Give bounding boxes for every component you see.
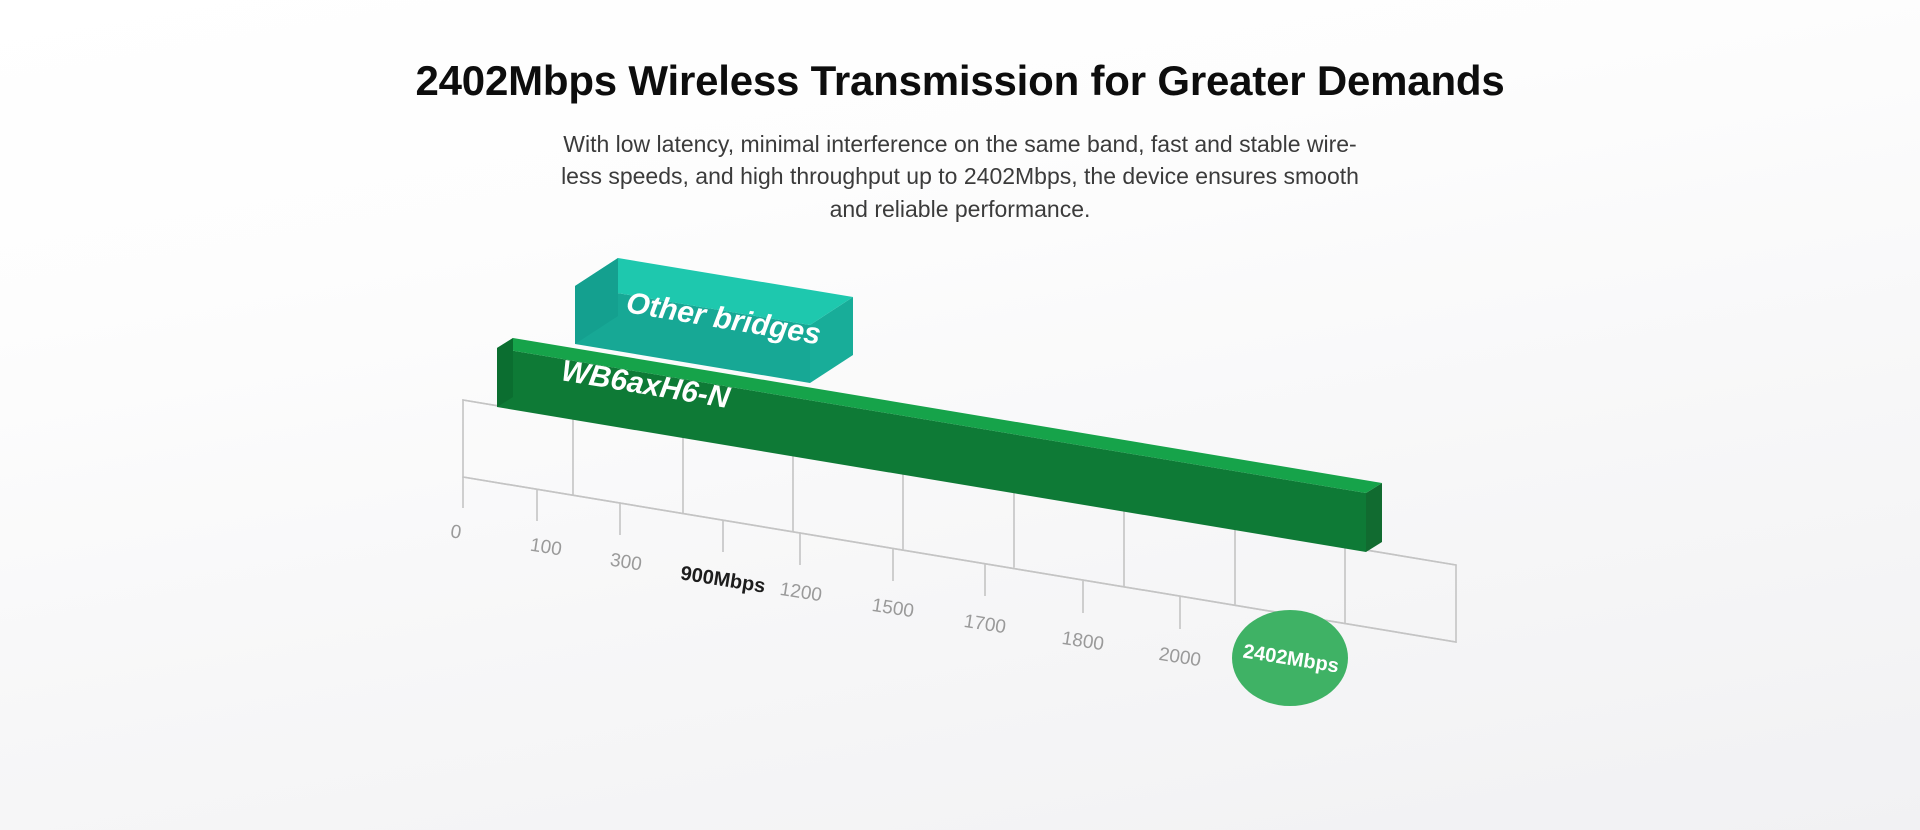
subtitle-line-1: With low latency, minimal interference o…	[470, 128, 1450, 161]
axis-tick-1700: 1700	[962, 564, 1007, 638]
tick-label-text: 0	[449, 521, 463, 543]
page-title: 2402Mbps Wireless Transmission for Great…	[0, 56, 1920, 106]
tick-label-text: 100	[529, 535, 564, 561]
header-block: 2402Mbps Wireless Transmission for Great…	[0, 56, 1920, 226]
tick-label-text: 900Mbps	[679, 563, 767, 598]
bar-wb6axh6n[interactable]: WB6axH6-N	[497, 338, 1382, 552]
subtitle-line-3: and reliable performance.	[470, 193, 1450, 226]
tick-label-text: 1800	[1060, 628, 1105, 655]
tick-label-text: 1500	[870, 595, 915, 622]
page-root: 2402Mbps Wireless Transmission for Great…	[0, 0, 1920, 830]
axis-tick-900: 900Mbps	[679, 520, 767, 598]
axis-ticks: 0 100 300 900Mbps 1200	[449, 477, 1202, 671]
tick-label-text: 1700	[962, 611, 1007, 638]
tick-label-text: 1200	[778, 579, 823, 606]
axis-tick-1500: 1500	[870, 549, 915, 622]
bar-end-cap	[1366, 483, 1382, 552]
callout-2402mbps[interactable]: 2402Mbps	[1232, 610, 1348, 706]
subtitle-line-2: less speeds, and high throughput up to 2…	[470, 160, 1450, 193]
axis-tick-0: 0	[449, 477, 463, 544]
bar-chart-3d: 0 100 300 900Mbps 1200	[0, 250, 1920, 810]
axis-tick-300: 300	[609, 503, 644, 575]
axis-tick-2000: 2000	[1157, 597, 1202, 671]
page-subtitle: With low latency, minimal interference o…	[470, 128, 1450, 226]
axis-tick-100: 100	[529, 490, 564, 560]
axis-tick-1800: 1800	[1060, 581, 1105, 655]
bar-left-cap	[497, 338, 513, 407]
tick-label-text: 300	[609, 550, 644, 576]
axis-tick-1200: 1200	[778, 533, 823, 606]
tick-label-text: 2000	[1157, 644, 1202, 671]
chart-container: 0 100 300 900Mbps 1200	[0, 250, 1920, 810]
